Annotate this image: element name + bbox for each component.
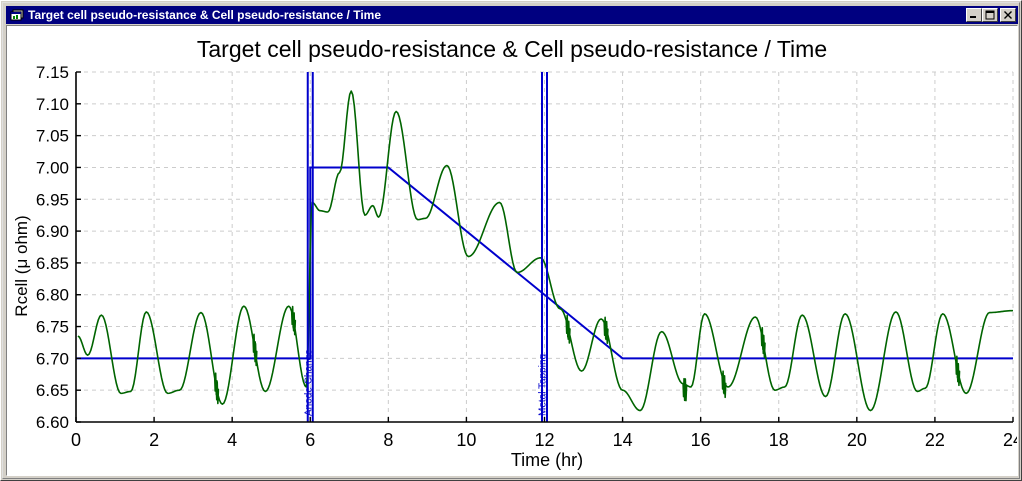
x-tick-label: 6 — [305, 430, 315, 450]
x-tick-label: 24 — [1003, 430, 1017, 450]
chart-canvas[interactable]: Target cell pseudo-resistance & Cell pse… — [7, 26, 1017, 475]
x-axis-label: Time (hr) — [511, 450, 583, 470]
x-tick-label: 12 — [534, 430, 554, 450]
y-tick-label: 6.60 — [36, 413, 69, 432]
y-tick-label: 6.70 — [36, 349, 69, 368]
event-marker-label: Metal Tapping — [538, 354, 549, 416]
x-tick-label: 10 — [456, 430, 476, 450]
chart-client-area: Target cell pseudo-resistance & Cell pse… — [6, 25, 1018, 476]
x-tick-label: 22 — [925, 430, 945, 450]
y-tick-label: 6.90 — [36, 222, 69, 241]
y-tick-label: 6.85 — [36, 254, 69, 273]
y-tick-label: 6.95 — [36, 190, 69, 209]
minimize-button[interactable] — [966, 8, 982, 22]
window-titlebar[interactable]: Target cell pseudo-resistance & Cell pse… — [6, 6, 1018, 24]
maximize-button[interactable] — [982, 8, 998, 22]
window-title: Target cell pseudo-resistance & Cell pse… — [28, 8, 966, 22]
y-tick-label: 7.00 — [36, 158, 69, 177]
x-tick-label: 0 — [71, 430, 81, 450]
y-tick-label: 7.15 — [36, 63, 69, 82]
x-tick-label: 20 — [847, 430, 867, 450]
x-tick-label: 16 — [691, 430, 711, 450]
y-axis-label: Rcell (μ ohm) — [12, 215, 31, 316]
x-tick-label: 4 — [227, 430, 237, 450]
x-tick-label: 8 — [383, 430, 393, 450]
chart-window-icon — [9, 8, 25, 23]
x-tick-label: 2 — [149, 430, 159, 450]
y-tick-label: 6.80 — [36, 286, 69, 305]
window-inner-frame: Target cell pseudo-resistance & Cell pse… — [2, 2, 1020, 479]
y-tick-label: 6.75 — [36, 318, 69, 337]
window-controls — [966, 8, 1016, 22]
close-button[interactable] — [1000, 8, 1016, 22]
event-marker-label: Anode Change — [303, 349, 314, 416]
y-tick-label: 7.10 — [36, 95, 69, 114]
y-tick-label: 7.05 — [36, 127, 69, 146]
chart-window: Target cell pseudo-resistance & Cell pse… — [0, 0, 1022, 481]
x-tick-label: 14 — [613, 430, 633, 450]
y-tick-label: 6.65 — [36, 381, 69, 400]
x-tick-label: 18 — [769, 430, 789, 450]
plot-background — [7, 26, 1017, 475]
chart-title: Target cell pseudo-resistance & Cell pse… — [197, 36, 827, 62]
